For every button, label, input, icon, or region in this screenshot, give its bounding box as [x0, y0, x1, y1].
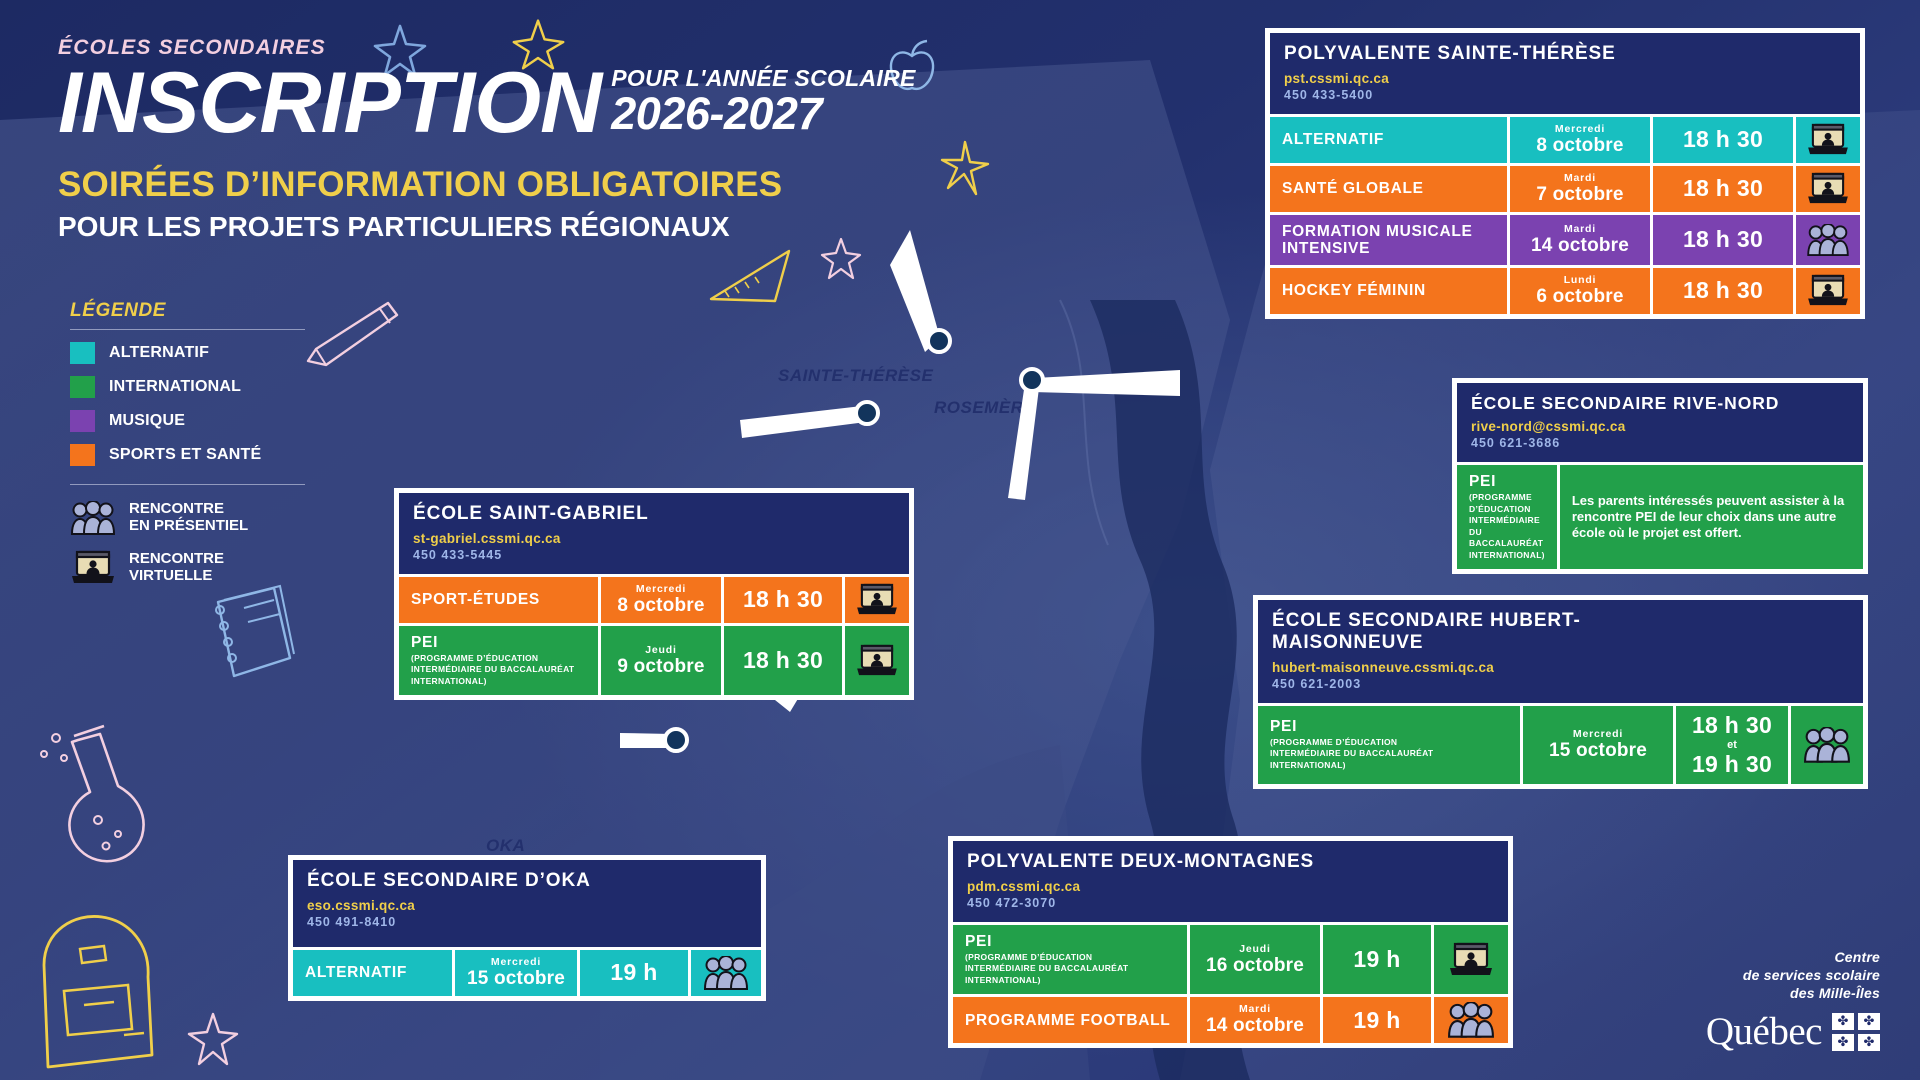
date-weekday: Mardi — [1239, 1003, 1271, 1015]
flag-square-2 — [1858, 1013, 1880, 1030]
program-time-cell: 19 h — [580, 950, 688, 996]
program-title: PEI — [965, 933, 992, 950]
legend-item-sports: SPORTS ET SANTÉ — [70, 444, 305, 466]
program-time-cell: 18 h 30 et 19 h 30 — [1676, 706, 1788, 784]
school-card-polyvalente-sainte-therese[interactable]: POLYVALENTE SAINTE-THÉRÈSE pst.cssmi.qc.… — [1265, 28, 1865, 319]
program-name-cell: SANTÉ GLOBALE — [1270, 166, 1507, 212]
program-subtitle: (PROGRAMME D’ÉDUCATION INTERMÉDIAIRE DU … — [965, 952, 1135, 986]
poster-header: ÉCOLES SECONDAIRES INSCRIPTION POUR L'AN… — [58, 36, 1018, 243]
date-weekday: Mercredi — [636, 583, 686, 595]
table-row: SANTÉ GLOBALE Mardi 7 octobre 18 h 30 — [1270, 166, 1860, 212]
program-note-cell: Les parents intéressés peuvent assister … — [1560, 465, 1863, 569]
program-mode-cell — [845, 626, 909, 695]
date-weekday: Mardi — [1564, 223, 1596, 235]
card-header: ÉCOLE SECONDAIRE HUBERT-MAISONNEUVE hube… — [1258, 600, 1863, 703]
program-name-cell: PEI (PROGRAMME D’ÉDUCATION INTERMÉDIAIRE… — [1457, 465, 1557, 569]
program-mode-cell — [1796, 166, 1860, 212]
people-group-icon — [1447, 1002, 1495, 1038]
org-line-1: Centre — [1834, 949, 1880, 965]
program-name-cell: PROGRAMME FOOTBALL — [953, 997, 1187, 1043]
table-row: PROGRAMME FOOTBALL Mardi 14 octobre 19 h — [953, 997, 1508, 1043]
organization-name: Centre de services scolaire des Mille-Îl… — [1706, 949, 1880, 1003]
map-dot-rive-nord — [1019, 367, 1045, 393]
date-weekday: Mercredi — [1555, 123, 1605, 135]
school-name: ÉCOLE SECONDAIRE D’OKA — [307, 870, 747, 892]
table-row: PEI (PROGRAMME D’ÉDUCATION INTERMÉDIAIRE… — [1457, 465, 1863, 569]
program-time-cell: 18 h 30 — [1653, 117, 1793, 163]
legend-label-musique: MUSIQUE — [109, 412, 185, 430]
table-row: FORMATION MUSICALE INTENSIVE Mardi 14 oc… — [1270, 215, 1860, 265]
school-phone[interactable]: 450 621-2003 — [1272, 677, 1849, 691]
page-title: INSCRIPTION — [58, 64, 601, 143]
people-group-icon — [1803, 727, 1851, 763]
org-line-3: des Mille-Îles — [1790, 985, 1880, 1001]
legend-label-virtuelle-line1: RENCONTRE — [129, 550, 224, 567]
flag-square-4 — [1858, 1034, 1880, 1051]
time-value: 19 h — [1353, 946, 1400, 973]
table-row: HOCKEY FÉMININ Lundi 6 octobre 18 h 30 — [1270, 268, 1860, 314]
laptop-person-icon — [1806, 172, 1850, 206]
program-table: SPORT-ÉTUDES Mercredi 8 octobre 18 h 30 — [399, 577, 909, 695]
program-subtitle: (PROGRAMME D’ÉDUCATION INTERMÉDIAIRE DU … — [1469, 492, 1545, 561]
program-date-cell: Mardi 14 octobre — [1190, 997, 1320, 1043]
legend-label-alternatif: ALTERNATIF — [109, 344, 209, 362]
program-mode-cell — [1434, 925, 1508, 994]
program-time-cell: 18 h 30 — [1653, 268, 1793, 314]
school-card-polyvalente-deux-montagnes[interactable]: POLYVALENTE DEUX-MONTAGNES pdm.cssmi.qc.… — [948, 836, 1513, 1048]
program-name-cell: HOCKEY FÉMININ — [1270, 268, 1507, 314]
school-card-ecole-secondaire-oka[interactable]: ÉCOLE SECONDAIRE D’OKA eso.cssmi.qc.ca 4… — [288, 855, 766, 1001]
program-mode-cell — [1796, 268, 1860, 314]
program-date-cell: Mercredi 15 octobre — [455, 950, 577, 996]
program-title: PEI — [411, 634, 438, 651]
legend-item-international: INTERNATIONAL — [70, 376, 305, 398]
program-table: PEI (PROGRAMME D’ÉDUCATION INTERMÉDIAIRE… — [953, 925, 1508, 1043]
time-value: 18 h 30 — [1683, 175, 1763, 202]
legend: LÉGENDE ALTERNATIF INTERNATIONAL MUSIQUE… — [70, 300, 305, 601]
map-dot-saint-gabriel — [854, 400, 880, 426]
school-card-ecole-secondaire-hubert-maisonneuve[interactable]: ÉCOLE SECONDAIRE HUBERT-MAISONNEUVE hube… — [1253, 595, 1868, 789]
flask-icon — [30, 700, 175, 880]
program-title: FORMATION MUSICALE INTENSIVE — [1282, 223, 1477, 257]
legend-label-presentiel-line1: RENCONTRE — [129, 500, 224, 517]
time-value: 18 h 30 — [1683, 226, 1763, 253]
program-name-cell: SPORT-ÉTUDES — [399, 577, 598, 623]
program-subtitle: (PROGRAMME D’ÉDUCATION INTERMÉDIAIRE DU … — [411, 653, 576, 687]
program-mode-cell — [1796, 215, 1860, 265]
date-day: 14 octobre — [1206, 1015, 1304, 1037]
time-value: 18 h 30 — [1683, 277, 1763, 304]
school-name: ÉCOLE SECONDAIRE RIVE-NORD — [1471, 393, 1849, 413]
school-name: POLYVALENTE DEUX-MONTAGNES — [967, 851, 1494, 873]
program-date-cell: Jeudi 16 octobre — [1190, 925, 1320, 994]
program-mode-cell — [1796, 117, 1860, 163]
date-day: 15 octobre — [1549, 740, 1647, 762]
date-day: 8 octobre — [617, 595, 704, 617]
time-value: 19 h — [1353, 1007, 1400, 1034]
school-website[interactable]: pst.cssmi.qc.ca — [1284, 71, 1846, 86]
program-time-cell: 18 h 30 — [1653, 166, 1793, 212]
program-time-cell: 18 h 30 — [1653, 215, 1793, 265]
legend-item-alternatif: ALTERNATIF — [70, 342, 305, 364]
map-dot-sainte-therese — [926, 328, 952, 354]
card-header: ÉCOLE SECONDAIRE D’OKA eso.cssmi.qc.ca 4… — [293, 860, 761, 947]
legend-item-musique: MUSIQUE — [70, 410, 305, 432]
date-weekday: Jeudi — [645, 644, 676, 656]
legend-swatch-international — [70, 376, 95, 398]
date-weekday: Mercredi — [1573, 728, 1623, 740]
program-table: PEI (PROGRAMME D’ÉDUCATION INTERMÉDIAIRE… — [1258, 706, 1863, 784]
card-header: POLYVALENTE SAINTE-THÉRÈSE pst.cssmi.qc.… — [1270, 33, 1860, 114]
date-weekday: Mardi — [1564, 172, 1596, 184]
legend-swatch-alternatif — [70, 342, 95, 364]
table-row: ALTERNATIF Mercredi 15 octobre 19 h — [293, 950, 761, 996]
flag-square-3 — [1832, 1034, 1854, 1051]
card-header: ÉCOLE SAINT-GABRIEL st-gabriel.cssmi.qc.… — [399, 493, 909, 574]
school-website[interactable]: rive-nord@cssmi.qc.ca — [1471, 419, 1849, 434]
school-card-ecole-saint-gabriel[interactable]: ÉCOLE SAINT-GABRIEL st-gabriel.cssmi.qc.… — [394, 488, 914, 700]
program-name-cell: ALTERNATIF — [1270, 117, 1507, 163]
footer-logo: Centre de services scolaire des Mille-Îl… — [1706, 949, 1880, 1054]
card-header: POLYVALENTE DEUX-MONTAGNES pdm.cssmi.qc.… — [953, 841, 1508, 922]
program-time-cell: 18 h 30 — [724, 577, 842, 623]
school-phone[interactable]: 450 472-3070 — [967, 896, 1494, 910]
table-row: ALTERNATIF Mercredi 8 octobre 18 h 30 — [1270, 117, 1860, 163]
laptop-person-icon — [855, 583, 899, 617]
program-title: SANTÉ GLOBALE — [1282, 180, 1424, 197]
school-name: ÉCOLE SECONDAIRE HUBERT-MAISONNEUVE — [1272, 610, 1602, 654]
program-mode-cell — [1434, 997, 1508, 1043]
org-line-2: de services scolaire — [1743, 967, 1880, 983]
legend-item-presentiel: RENCONTRE EN PRÉSENTIEL — [70, 501, 305, 535]
header-subtitle: SOIRÉES D’INFORMATION OBLIGATOIRES — [58, 165, 1018, 205]
time-value: 18 h 30 — [1692, 712, 1772, 739]
backpack-icon — [18, 905, 178, 1075]
triangle-ruler-icon — [705, 245, 795, 307]
quebec-logo: Québec — [1706, 1009, 1880, 1054]
legend-label-virtuelle: RENCONTRE VIRTUELLE — [129, 551, 224, 585]
program-name-cell: PEI (PROGRAMME D’ÉDUCATION INTERMÉDIAIRE… — [1258, 706, 1520, 784]
date-day: 16 octobre — [1206, 955, 1304, 977]
flag-square-1 — [1832, 1013, 1854, 1030]
school-phone[interactable]: 450 491-8410 — [307, 915, 747, 929]
program-date-cell: Jeudi 9 octobre — [601, 626, 721, 695]
legend-label-sports: SPORTS ET SANTÉ — [109, 446, 261, 464]
date-day: 15 octobre — [467, 968, 565, 990]
time-value: 18 h 30 — [743, 647, 823, 674]
school-card-ecole-secondaire-rive-nord[interactable]: ÉCOLE SECONDAIRE RIVE-NORD rive-nord@css… — [1452, 378, 1868, 574]
school-website[interactable]: hubert-maisonneuve.cssmi.qc.ca — [1272, 660, 1849, 675]
legend-label-presentiel-line2: EN PRÉSENTIEL — [129, 517, 248, 534]
legend-label-presentiel: RENCONTRE EN PRÉSENTIEL — [129, 501, 248, 535]
time-value: 19 h — [610, 959, 657, 986]
laptop-person-icon — [1806, 274, 1850, 308]
program-time-cell: 18 h 30 — [724, 626, 842, 695]
school-website[interactable]: pdm.cssmi.qc.ca — [967, 879, 1494, 894]
people-group-icon — [70, 501, 116, 535]
program-title: HOCKEY FÉMININ — [1282, 282, 1426, 299]
program-mode-cell — [845, 577, 909, 623]
program-time-cell: 19 h — [1323, 925, 1431, 994]
program-name-cell: ALTERNATIF — [293, 950, 452, 996]
program-date-cell: Lundi 6 octobre — [1510, 268, 1650, 314]
time-value: 18 h 30 — [743, 586, 823, 613]
program-title: PEI — [1469, 473, 1496, 490]
time-value: 18 h 30 — [1683, 126, 1763, 153]
table-row: PEI (PROGRAMME D’ÉDUCATION INTERMÉDIAIRE… — [1258, 706, 1863, 784]
program-name-cell: FORMATION MUSICALE INTENSIVE — [1270, 215, 1507, 265]
people-group-icon — [703, 956, 749, 990]
program-title: ALTERNATIF — [305, 964, 407, 981]
date-day: 14 octobre — [1531, 235, 1629, 257]
program-mode-cell — [691, 950, 761, 996]
program-title: PEI — [1270, 718, 1297, 735]
date-day: 9 octobre — [617, 656, 704, 678]
program-table: ALTERNATIF Mercredi 8 octobre 18 h 30 — [1270, 117, 1860, 314]
program-date-cell: Mercredi 8 octobre — [1510, 117, 1650, 163]
program-name-cell: PEI (PROGRAMME D’ÉDUCATION INTERMÉDIAIRE… — [953, 925, 1187, 994]
infographic-poster: SAINTE-THÉRÈSE ROSEMÈRE DEUX-MONTAGNES O… — [0, 0, 1920, 1080]
program-table: PEI (PROGRAMME D’ÉDUCATION INTERMÉDIAIRE… — [1457, 465, 1863, 569]
legend-divider-top — [70, 329, 305, 330]
program-subtitle: (PROGRAMME D’ÉDUCATION INTERMÉDIAIRE DU … — [1270, 737, 1438, 771]
map-dot-oka — [663, 727, 689, 753]
program-mode-cell — [1791, 706, 1863, 784]
pencil-icon — [300, 295, 405, 370]
school-name: ÉCOLE SAINT-GABRIEL — [413, 503, 895, 525]
time-value-secondary: 19 h 30 — [1692, 751, 1772, 778]
time-separator: et — [1727, 739, 1737, 751]
program-date-cell: Mercredi 8 octobre — [601, 577, 721, 623]
legend-label-international: INTERNATIONAL — [109, 378, 241, 396]
laptop-person-icon — [1447, 942, 1495, 978]
legend-swatch-musique — [70, 410, 95, 432]
quebec-wordmark: Québec — [1706, 1009, 1822, 1054]
school-website[interactable]: eso.cssmi.qc.ca — [307, 898, 747, 913]
program-note: Les parents intéressés peuvent assister … — [1572, 493, 1851, 541]
program-title: ALTERNATIF — [1282, 131, 1384, 148]
school-phone[interactable]: 450 433-5445 — [413, 548, 895, 562]
people-group-icon — [1806, 224, 1850, 256]
legend-divider-mid — [70, 484, 305, 485]
date-day: 6 octobre — [1536, 286, 1623, 308]
header-year: 2026-2027 — [611, 90, 915, 137]
program-title: PROGRAMME FOOTBALL — [965, 1012, 1170, 1029]
legend-title: LÉGENDE — [70, 300, 305, 322]
laptop-person-icon — [1806, 123, 1850, 157]
quebec-flag-icon — [1832, 1013, 1880, 1051]
program-title: SPORT-ÉTUDES — [411, 591, 540, 608]
laptop-person-icon — [855, 644, 899, 678]
header-subtitle-secondary: POUR LES PROJETS PARTICULIERS RÉGIONAUX — [58, 211, 1018, 243]
school-phone[interactable]: 450 433-5400 — [1284, 88, 1846, 102]
date-day: 8 octobre — [1536, 135, 1623, 157]
program-date-cell: Mercredi 15 octobre — [1523, 706, 1673, 784]
card-header: ÉCOLE SECONDAIRE RIVE-NORD rive-nord@css… — [1457, 383, 1863, 462]
program-time-cell: 19 h — [1323, 997, 1431, 1043]
date-weekday: Lundi — [1564, 274, 1597, 286]
star-pink-small-icon — [185, 1010, 241, 1070]
program-name-cell: PEI (PROGRAMME D’ÉDUCATION INTERMÉDIAIRE… — [399, 626, 598, 695]
legend-label-virtuelle-line2: VIRTUELLE — [129, 567, 212, 584]
program-date-cell: Mardi 14 octobre — [1510, 215, 1650, 265]
date-day: 7 octobre — [1536, 184, 1623, 206]
date-weekday: Mercredi — [491, 956, 541, 968]
table-row: SPORT-ÉTUDES Mercredi 8 octobre 18 h 30 — [399, 577, 909, 623]
school-website[interactable]: st-gabriel.cssmi.qc.ca — [413, 531, 895, 546]
program-date-cell: Mardi 7 octobre — [1510, 166, 1650, 212]
program-table: ALTERNATIF Mercredi 15 octobre 19 h — [293, 950, 761, 996]
header-year-label: POUR L'ANNÉE SCOLAIRE — [611, 67, 915, 90]
school-phone[interactable]: 450 621-3686 — [1471, 436, 1849, 450]
legend-swatch-sports — [70, 444, 95, 466]
legend-item-virtuelle: RENCONTRE VIRTUELLE — [70, 550, 305, 586]
table-row: PEI (PROGRAMME D’ÉDUCATION INTERMÉDIAIRE… — [953, 925, 1508, 994]
date-weekday: Jeudi — [1239, 943, 1270, 955]
school-name: POLYVALENTE SAINTE-THÉRÈSE — [1284, 43, 1846, 65]
table-row: PEI (PROGRAMME D’ÉDUCATION INTERMÉDIAIRE… — [399, 626, 909, 695]
laptop-person-icon — [70, 550, 116, 586]
